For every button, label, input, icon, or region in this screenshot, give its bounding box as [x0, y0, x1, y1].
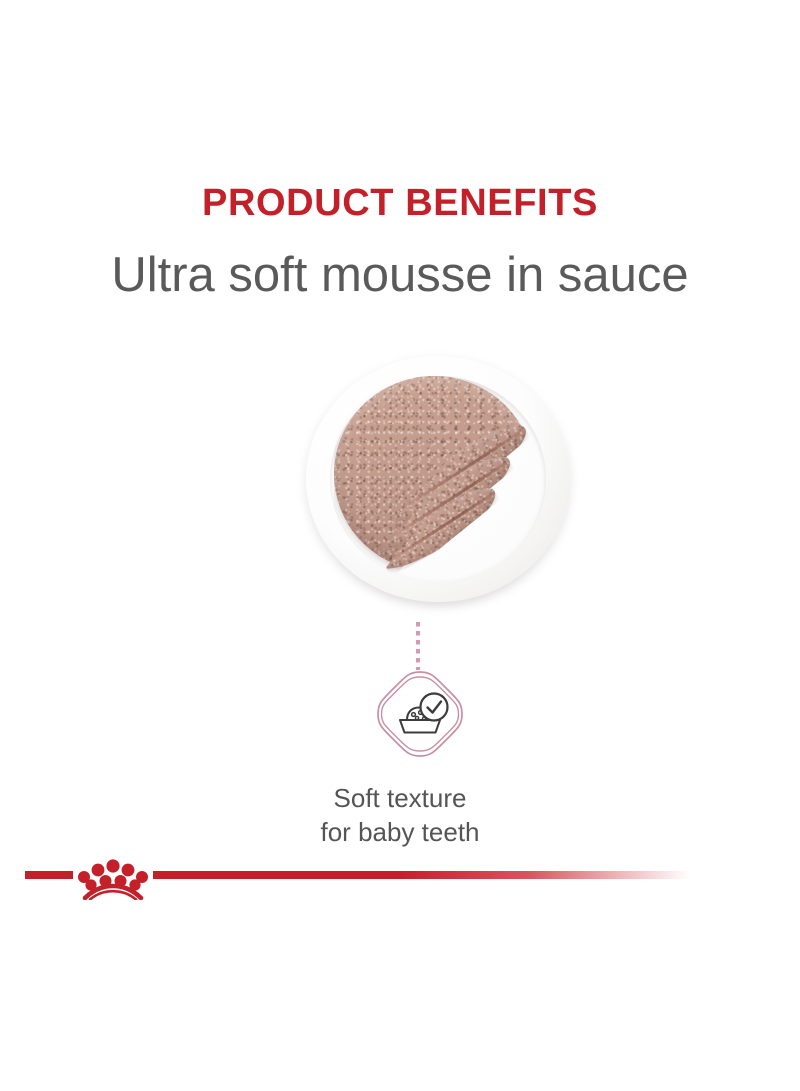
page-title: Ultra soft mousse in sauce	[0, 248, 800, 303]
dotted-connector	[416, 622, 420, 670]
brand-rule-right	[153, 871, 690, 879]
benefit-caption-line-2: for baby teeth	[0, 816, 800, 850]
royal-canin-crown-logo	[76, 856, 150, 900]
brand-footer-bar	[0, 856, 800, 904]
benefit-caption: Soft texture for baby teeth	[0, 782, 800, 850]
section-eyebrow: PRODUCT BENEFITS	[0, 183, 800, 225]
plate	[306, 356, 570, 602]
brand-rule-left	[25, 871, 73, 879]
benefit-caption-line-1: Soft texture	[0, 782, 800, 816]
food-bowl-check-icon	[374, 668, 466, 760]
mousse-food	[334, 376, 534, 572]
product-image	[296, 347, 578, 609]
